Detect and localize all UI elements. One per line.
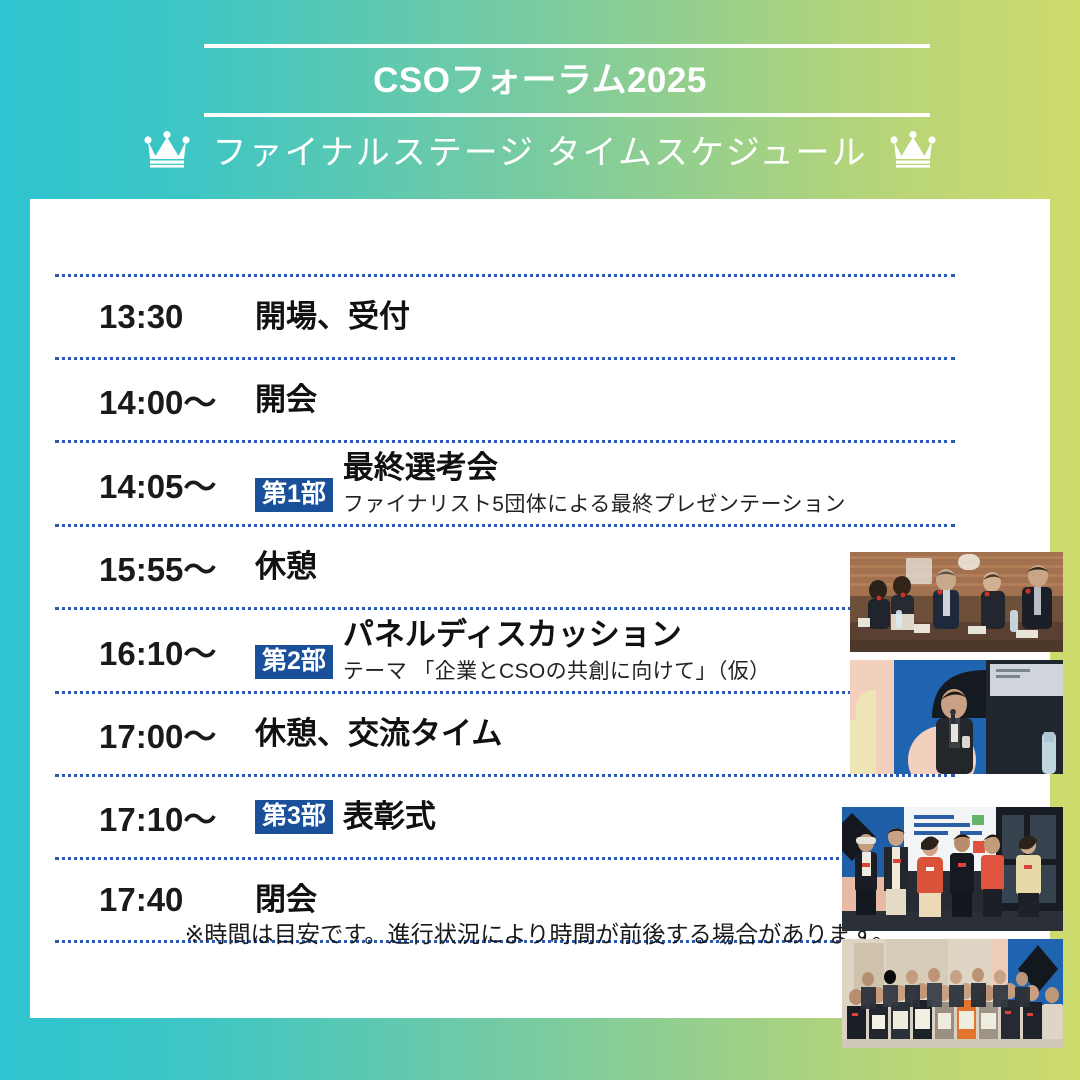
photo-stage-group [842,807,1063,931]
row-texts: 閉会 [255,881,317,919]
part-badge: 第2部 [255,645,333,679]
row-texts: パネルディスカッションテーマ 「企業とCSOの共創に向けて」（仮） [343,616,771,685]
row-title: 開会 [255,381,317,419]
row-time: 15:55〜 [55,543,255,591]
row-texts: 休憩 [255,548,317,586]
row-subtitle: ファイナリスト5団体による最終プレゼンテーション [343,491,846,518]
row-body: 開会 [255,381,955,419]
row-body: 開場、受付 [255,298,955,336]
row-time: 17:00〜 [55,710,255,758]
row-time: 14:05〜 [55,460,255,508]
schedule-table: 13:30開場、受付14:00〜開会14:05〜第1部最終選考会ファイナリスト5… [55,274,955,943]
schedule-row: 17:00〜休憩、交流タイム [55,694,955,774]
photo-award-ceremony [842,939,1063,1048]
row-time: 17:40 [55,881,255,919]
row-title: 閉会 [255,881,317,919]
row-time: 14:00〜 [55,376,255,424]
part-badge: 第3部 [255,800,333,834]
crown-icon [144,131,190,169]
schedule-card: 13:30開場、受付14:00〜開会14:05〜第1部最終選考会ファイナリスト5… [30,199,1050,1018]
row-title: 開場、受付 [255,298,410,336]
page-title: CSOフォーラム2025 [0,56,1080,106]
crown-icon [890,131,936,169]
row-title: パネルディスカッション [343,616,771,654]
header: CSOフォーラム2025 ファイナルステージ タイムスケジュール [0,0,1080,199]
schedule-row: 13:30開場、受付 [55,277,955,357]
row-title: 休憩、交流タイム [255,715,502,753]
row-body: 第1部最終選考会ファイナリスト5団体による最終プレゼンテーション [255,449,955,518]
row-time: 13:30 [55,298,255,336]
photo-judges-panel [850,552,1063,652]
header-rule-top [204,44,930,48]
row-title: 休憩 [255,548,317,586]
row-texts: 開会 [255,381,317,419]
page-subtitle: ファイナルステージ タイムスケジュール [212,125,867,174]
schedule-row: 15:55〜休憩 [55,527,955,607]
header-subtitle-row: ファイナルステージ タイムスケジュール [0,125,1080,174]
row-texts: 開場、受付 [255,298,410,336]
schedule-row: 14:05〜第1部最終選考会ファイナリスト5団体による最終プレゼンテーション [55,443,955,524]
row-title: 表彰式 [343,798,436,836]
header-rule-bottom [204,113,930,117]
row-texts: 休憩、交流タイム [255,715,502,753]
row-texts: 最終選考会ファイナリスト5団体による最終プレゼンテーション [343,449,846,518]
row-texts: 表彰式 [343,798,436,836]
part-badge: 第1部 [255,478,333,512]
schedule-row: 14:00〜開会 [55,360,955,440]
schedule-row: 16:10〜第2部パネルディスカッションテーマ 「企業とCSOの共創に向けて」（… [55,610,955,691]
schedule-row: 17:10〜第3部表彰式 [55,777,955,857]
row-time: 16:10〜 [55,627,255,675]
row-title: 最終選考会 [343,449,846,487]
row-time: 17:10〜 [55,793,255,841]
photo-speaker-presenting [850,660,1063,774]
row-subtitle: テーマ 「企業とCSOの共創に向けて」（仮） [343,658,771,685]
